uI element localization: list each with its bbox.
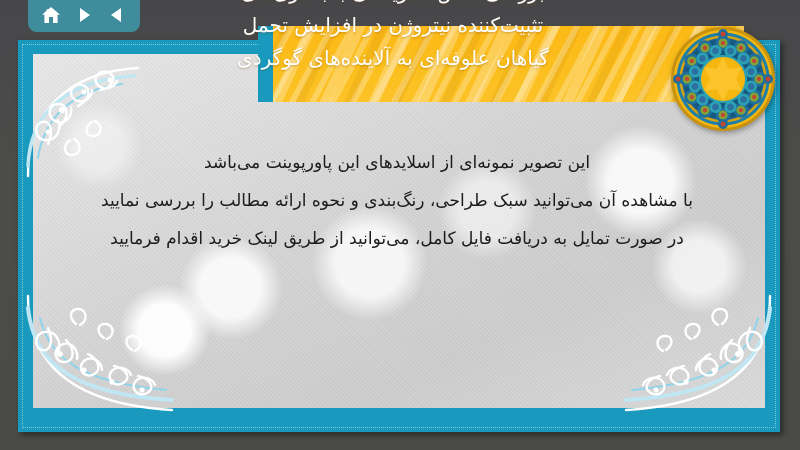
navigation-bar — [28, 0, 140, 32]
body-line-3: در صورت تمایل به دریافت فایل کامل، می‌تو… — [38, 220, 756, 258]
body-line-1: این تصویر نمونه‌ای از اسلایدهای این پاور… — [38, 144, 756, 182]
title-line-3: گیاهان علوفه‌ای به آلاینده‌های گوگردی — [0, 42, 786, 75]
triangle-left-icon — [108, 6, 126, 24]
body-line-2: با مشاهده آن می‌توانید سبک طراحی، رنگ‌بن… — [38, 182, 756, 220]
back-button[interactable] — [104, 3, 130, 27]
home-icon — [41, 6, 61, 25]
triangle-right-icon — [75, 6, 93, 24]
slide-preview-window: این تصویر نمونه‌ای از اسلایدهای این پاور… — [0, 0, 800, 450]
forward-button[interactable] — [71, 3, 97, 27]
persian-medallion-icon — [670, 26, 776, 132]
home-button[interactable] — [38, 3, 64, 27]
slide-body-text: این تصویر نمونه‌ای از اسلایدهای این پاور… — [38, 144, 756, 258]
